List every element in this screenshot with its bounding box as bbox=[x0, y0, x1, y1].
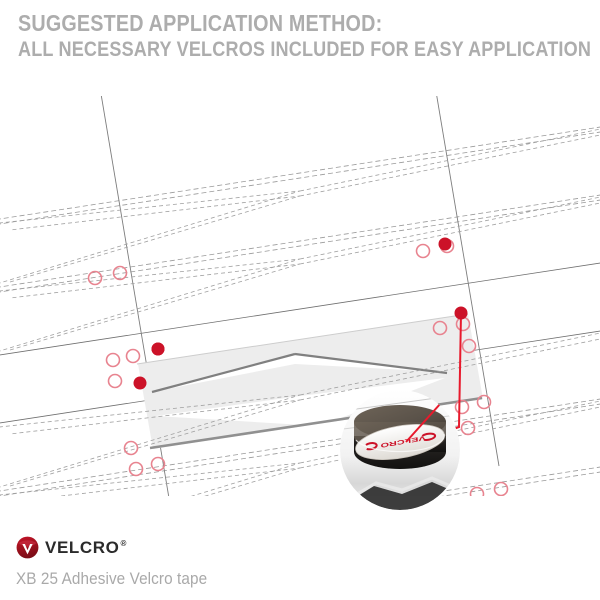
footer: VELCRO® XB 25 Adhesive Velcro tape bbox=[16, 534, 416, 589]
application-diagram bbox=[0, 96, 600, 496]
diagram-svg bbox=[0, 96, 600, 496]
velcro-marker-filled[interactable] bbox=[439, 238, 452, 251]
velcro-marker-filled[interactable] bbox=[134, 377, 147, 390]
page-title: SUGGESTED APPLICATION METHOD: bbox=[18, 10, 500, 36]
brand-logo: VELCRO® bbox=[16, 534, 416, 560]
header: SUGGESTED APPLICATION METHOD: ALL NECESS… bbox=[18, 10, 578, 62]
velcro-shield-icon bbox=[16, 536, 39, 559]
registered-trademark-icon: ® bbox=[120, 539, 127, 548]
brand-wordmark-text: VELCRO bbox=[45, 538, 119, 557]
velcro-marker-outline[interactable] bbox=[456, 401, 469, 414]
chevron-row-1 bbox=[0, 126, 600, 286]
velcro-marker-outline[interactable] bbox=[127, 350, 140, 363]
velcro-closeup-photo: VELCRO bbox=[340, 390, 460, 510]
poster-canvas: SUGGESTED APPLICATION METHOD: ALL NECESS… bbox=[0, 0, 600, 600]
velcro-marker-filled[interactable] bbox=[152, 343, 165, 356]
velcro-marker-outline[interactable] bbox=[109, 375, 122, 388]
velcro-marker-outline[interactable] bbox=[107, 354, 120, 367]
velcro-marker-outline[interactable] bbox=[417, 245, 430, 258]
velcro-marker-outline[interactable] bbox=[89, 272, 102, 285]
velcro-marker-outline[interactable] bbox=[130, 463, 143, 476]
panel-seam-lines bbox=[0, 124, 600, 496]
velcro-marker-outline[interactable] bbox=[495, 483, 508, 496]
page-subtitle: ALL NECESSARY VELCROS INCLUDED FOR EASY … bbox=[18, 38, 500, 62]
brand-wordmark: VELCRO® bbox=[45, 538, 127, 558]
product-caption: XB 25 Adhesive Velcro tape bbox=[16, 569, 376, 589]
velcro-marker-filled[interactable] bbox=[455, 307, 468, 320]
velcro-marker-outline[interactable] bbox=[152, 458, 165, 471]
velcro-closeup-inset[interactable]: VELCRO bbox=[340, 390, 460, 510]
